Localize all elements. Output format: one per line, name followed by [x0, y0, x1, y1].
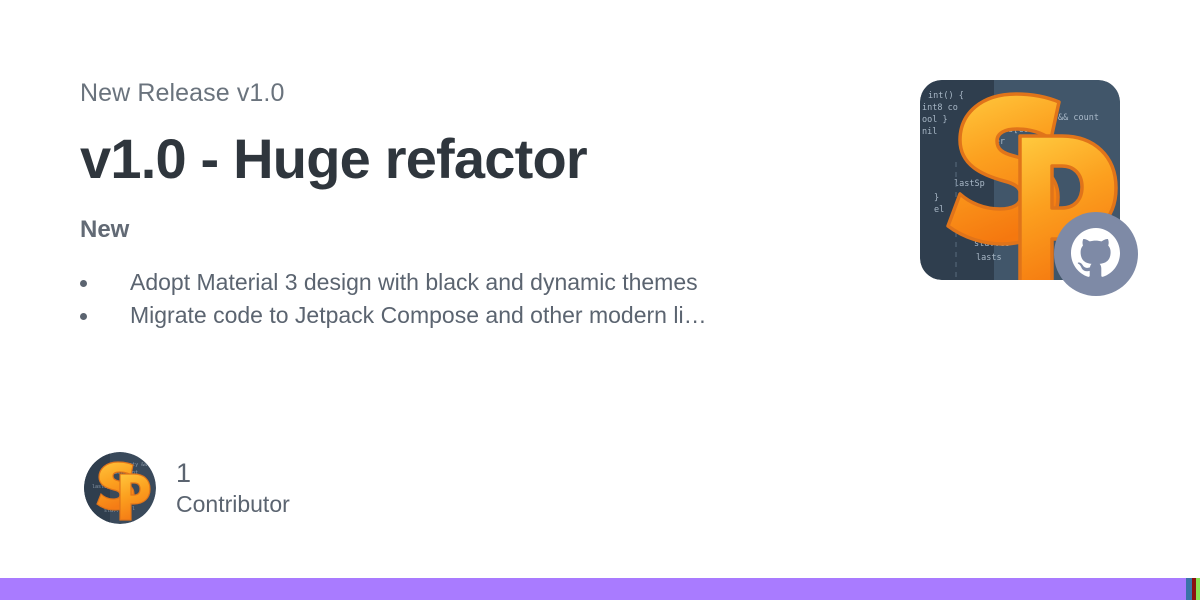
- contributor-label: Contributor: [176, 489, 290, 519]
- bullet-dot-icon: [80, 280, 87, 287]
- list-item-label: Migrate code to Jetpack Compose and othe…: [130, 302, 707, 328]
- svg-text:el: el: [934, 205, 944, 215]
- list-item: Migrate code to Jetpack Compose and othe…: [80, 299, 860, 332]
- bullet-dot-icon: [80, 313, 87, 320]
- release-social-card: New Release v1.0 v1.0 - Huge refactor Ne…: [0, 0, 1200, 600]
- language-bar: [0, 578, 1200, 600]
- language-segment-kotlin: [0, 578, 1186, 600]
- list-item: Adopt Material 3 design with black and d…: [80, 266, 860, 299]
- contributors-text: 1 Contributor: [176, 457, 290, 519]
- release-notes-list: Adopt Material 3 design with black and d…: [80, 266, 860, 332]
- section-heading-new: New: [80, 216, 860, 244]
- list-item-label: Adopt Material 3 design with black and d…: [130, 269, 698, 295]
- release-content: New Release v1.0 v1.0 - Huge refactor Ne…: [80, 78, 860, 332]
- svg-text:int8 co: int8 co: [922, 103, 958, 113]
- contributors-section: i= empty && ds[count lastSp (lastSpe std…: [84, 452, 290, 524]
- contributor-count: 1: [176, 457, 290, 489]
- repository-logo: int() { int8 co ool } nil != empty && co…: [920, 80, 1120, 280]
- svg-text:lasts: lasts: [976, 253, 1002, 263]
- svg-text:}: }: [934, 193, 939, 203]
- svg-text:int() {: int() {: [928, 91, 964, 101]
- svg-text:l: l: [132, 506, 135, 512]
- svg-text:ool }: ool }: [922, 115, 948, 125]
- github-octocat-icon: [1054, 212, 1138, 296]
- language-segment-shell: [1196, 578, 1200, 600]
- release-eyebrow: New Release v1.0: [80, 78, 860, 108]
- avatar: i= empty && ds[count lastSp (lastSpe std…: [84, 452, 156, 524]
- svg-text:lastSp: lastSp: [954, 179, 985, 189]
- release-title: v1.0 - Huge refactor: [80, 126, 860, 192]
- svg-text:nil: nil: [922, 127, 937, 137]
- avatar-sp-logo-icon: i= empty && ds[count lastSp (lastSpe std…: [84, 452, 156, 524]
